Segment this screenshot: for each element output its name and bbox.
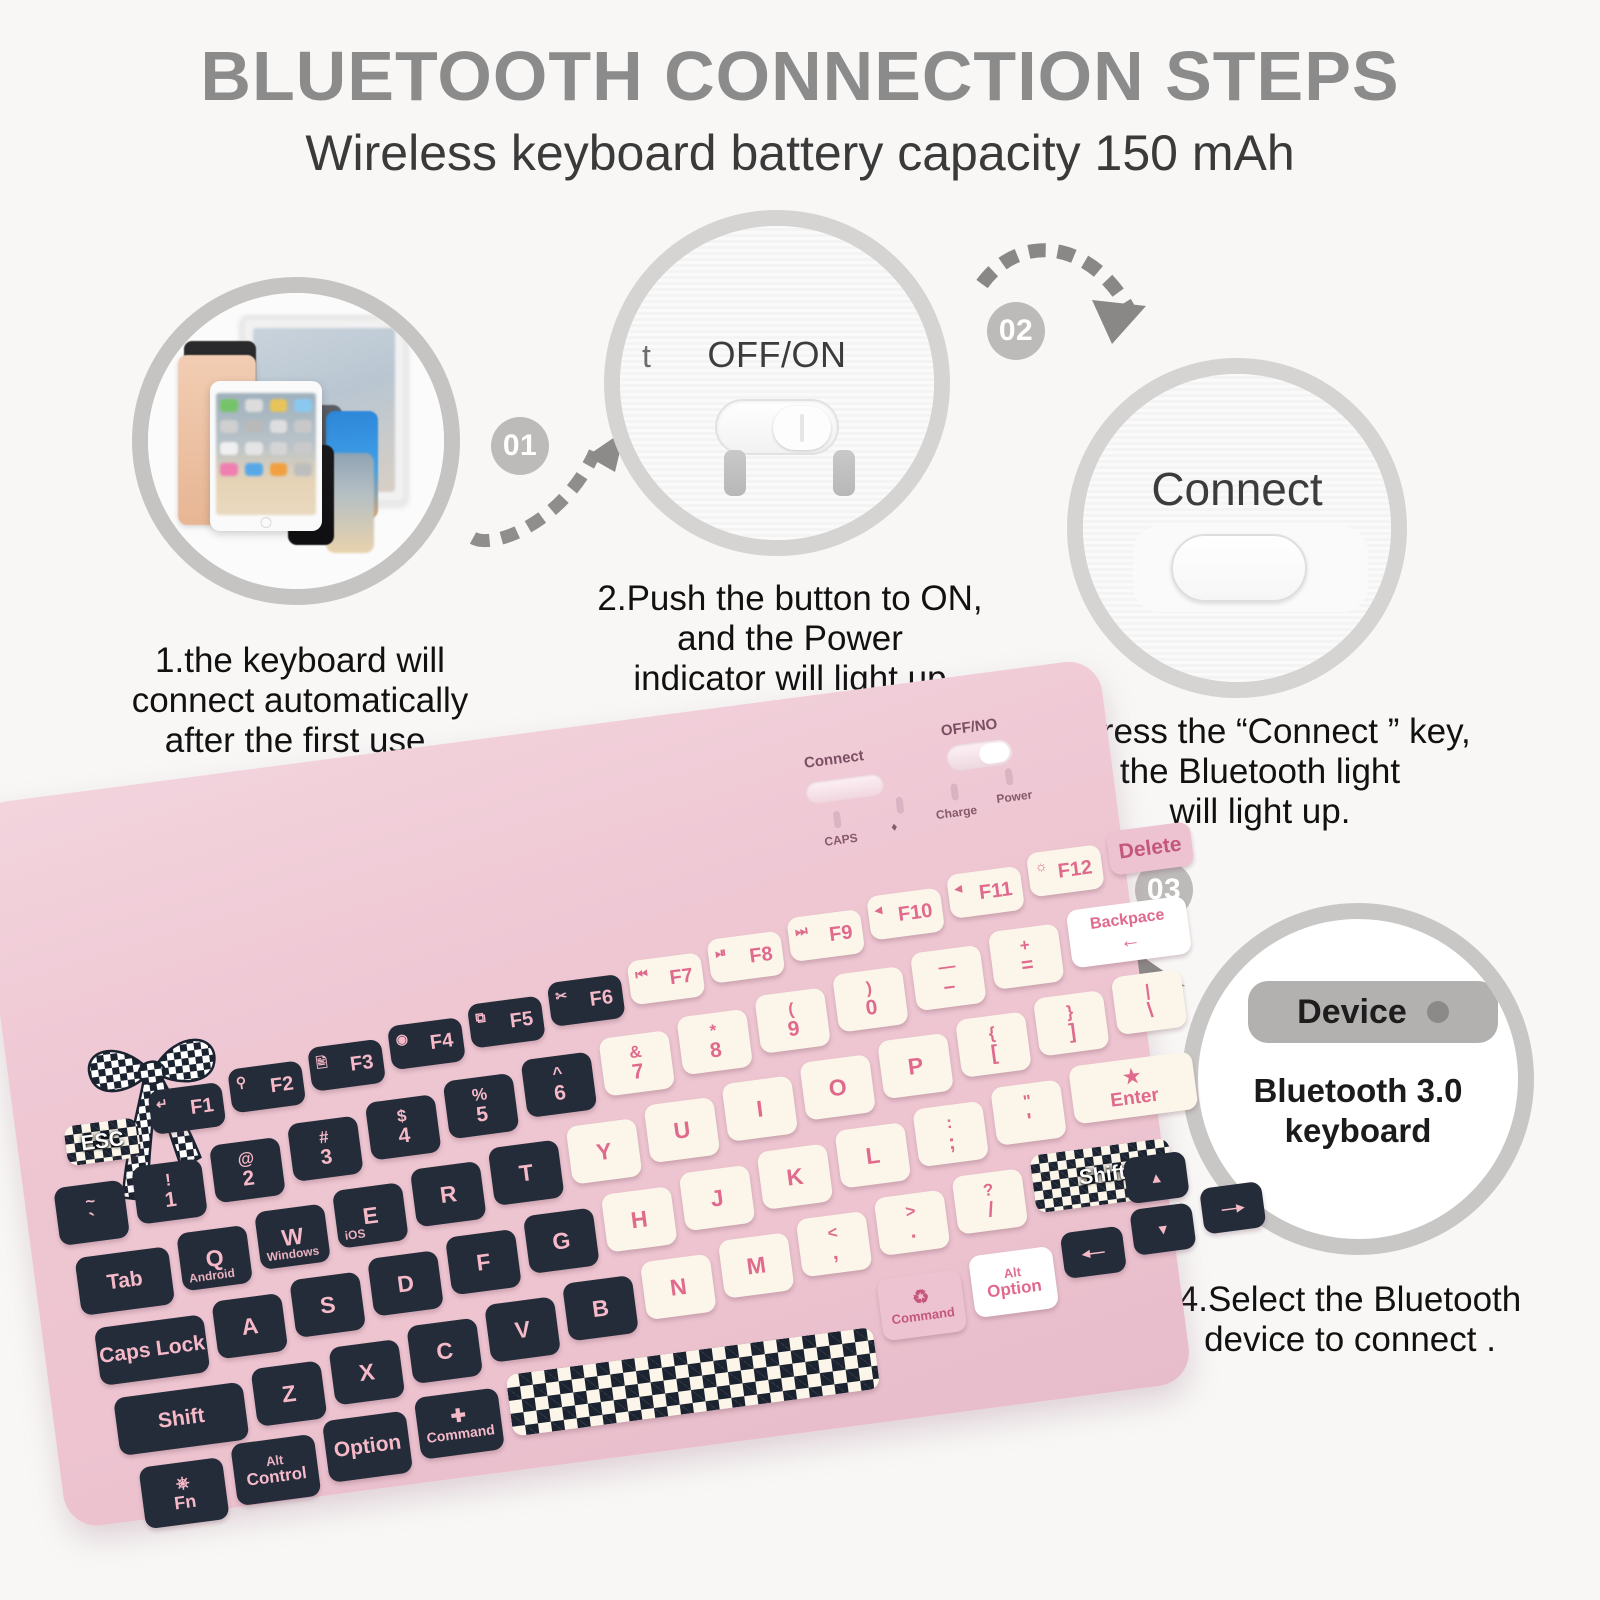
key-p[interactable]: P (877, 1033, 954, 1100)
key-f8[interactable]: ⏯F8 (706, 931, 785, 984)
key-k[interactable]: K (756, 1143, 833, 1210)
key-f3[interactable]: 🖹F3 (307, 1039, 386, 1092)
key-w[interactable]: WWindows (254, 1203, 331, 1270)
key-backtick[interactable]: ~` (53, 1179, 130, 1246)
arrow-left-icon: ◂— (1081, 1242, 1106, 1263)
key-f1[interactable]: ↵F1 (147, 1082, 226, 1135)
arrow-down-icon: ▾ (1158, 1220, 1168, 1239)
key-i[interactable]: I (721, 1075, 798, 1142)
page-title: BLUETOOTH CONNECTION STEPS (0, 36, 1600, 116)
key-x[interactable]: X (328, 1339, 405, 1406)
key-tab[interactable]: Tab (74, 1246, 175, 1316)
key-f10[interactable]: ◂F10 (866, 887, 945, 940)
key-m[interactable]: M (718, 1232, 795, 1299)
key-caps-lock[interactable]: Caps Lock (94, 1314, 211, 1386)
device-label: Device (1297, 993, 1407, 1032)
key-r[interactable]: R (410, 1161, 487, 1228)
prev-track-icon: ⏮ (634, 965, 649, 984)
key-c[interactable]: C (406, 1318, 483, 1385)
key-arrow-left[interactable]: ◂— (1060, 1226, 1127, 1280)
key-v[interactable]: V (484, 1296, 561, 1363)
key-5[interactable]: %5 (443, 1073, 520, 1140)
off-on-label: OFF/ON (620, 334, 934, 376)
key-option-left[interactable]: Option (322, 1411, 413, 1483)
key-a[interactable]: A (211, 1293, 288, 1360)
key-7[interactable]: &7 (598, 1030, 675, 1097)
indicator-slot-right (833, 450, 855, 496)
key-q[interactable]: QAndroid (176, 1225, 253, 1292)
app-icon-grid (220, 399, 312, 477)
bandage-icon: ✚ (450, 1405, 467, 1426)
key-shift-left[interactable]: Shift (113, 1382, 249, 1456)
star-icon: ✭ (1123, 1066, 1141, 1088)
key-period[interactable]: >. (874, 1189, 951, 1256)
document-icon: 🖹 (315, 1052, 329, 1077)
key-1[interactable]: !1 (131, 1158, 208, 1225)
undo-icon: ↵ (155, 1095, 169, 1113)
key-n[interactable]: N (640, 1254, 717, 1321)
key-h[interactable]: H (601, 1186, 678, 1253)
keyboard-body: Connect OFF/NO CAPS ♦ Charge Power ESC ↵… (0, 658, 1193, 1530)
arrow-right-icon: —▸ (1220, 1197, 1245, 1218)
key-f5[interactable]: ⧉F5 (467, 995, 546, 1048)
key-t[interactable]: T (488, 1139, 565, 1206)
key-deck: ESC ↵F1 ⚲F2 🖹F3 ◉F4 ⧉F5 ✂F6 ⏮F7 ⏯F8 (0, 658, 1193, 1530)
copy-icon: ⧉ (474, 1009, 486, 1027)
key-e[interactable]: EiOS (332, 1182, 409, 1249)
key-arrow-up[interactable]: ▴ (1122, 1151, 1189, 1205)
key-option-right[interactable]: AltOption (968, 1246, 1059, 1318)
key-fn[interactable]: ⎈Fn (138, 1457, 229, 1529)
key-9[interactable]: (9 (754, 987, 831, 1054)
key-equals[interactable]: += (988, 923, 1065, 990)
key-g[interactable]: G (523, 1207, 600, 1274)
key-f7[interactable]: ⏮F7 (626, 952, 705, 1005)
key-command-right[interactable]: ♻Command (876, 1269, 967, 1341)
key-command-left[interactable]: ✚Command (414, 1387, 505, 1459)
play-pause-icon: ⏯ (714, 944, 727, 962)
key-quote[interactable]: "' (990, 1079, 1067, 1146)
step-badge-01: 01 (491, 417, 549, 475)
device-row[interactable]: Device (1248, 981, 1498, 1043)
indicator-slot-left (724, 450, 746, 496)
key-arrow-right[interactable]: —▸ (1199, 1181, 1266, 1235)
volume-down-icon: ◂ (954, 880, 963, 898)
key-minus[interactable]: —– (910, 945, 987, 1012)
key-bracket-right[interactable]: }] (1033, 990, 1110, 1057)
key-s[interactable]: S (289, 1271, 366, 1338)
key-y[interactable]: Y (566, 1118, 643, 1185)
page-subtitle: Wireless keyboard battery capacity 150 m… (0, 124, 1600, 182)
step-1-device-circle (132, 277, 460, 605)
tablet-main-icon (210, 381, 322, 531)
step-2-power-switch-circle: t OFF/ON (604, 210, 950, 556)
search-icon: ⚲ (235, 1074, 247, 1092)
key-0[interactable]: )0 (832, 966, 909, 1033)
power-toggle-switch[interactable] (715, 399, 839, 455)
key-semicolon[interactable]: :; (912, 1101, 989, 1168)
connect-label: Connect (1083, 462, 1391, 516)
key-l[interactable]: L (834, 1122, 911, 1189)
key-4[interactable]: $4 (365, 1094, 442, 1161)
next-track-icon: ⏭ (794, 922, 809, 941)
device-collage (148, 293, 444, 589)
key-f12[interactable]: ☼F12 (1026, 844, 1105, 897)
key-2[interactable]: @2 (209, 1137, 286, 1204)
key-u[interactable]: U (643, 1097, 720, 1164)
key-esc[interactable]: ESC (63, 1117, 142, 1166)
mic-icon: ◉ (395, 1030, 409, 1048)
key-f11[interactable]: ◂F11 (946, 866, 1025, 919)
key-backslash[interactable]: |\ (1111, 969, 1188, 1036)
arrow-step-2-to-3 (960, 222, 1170, 382)
volume-mute-icon: ◂ (874, 901, 883, 919)
key-spacebar[interactable] (505, 1327, 880, 1437)
infographic-root: BLUETOOTH CONNECTION STEPS Wireless keyb… (0, 0, 1600, 1600)
bluetooth-device-name: Bluetooth 3.0keyboard (1198, 1071, 1518, 1152)
key-6[interactable]: ^6 (520, 1051, 597, 1118)
keyboard: Connect OFF/NO CAPS ♦ Charge Power ESC ↵… (0, 626, 1221, 1600)
key-b[interactable]: B (562, 1275, 639, 1342)
shell-icon: ⎈ (175, 1474, 191, 1493)
key-arrow-down[interactable]: ▾ (1129, 1202, 1196, 1256)
scissors-icon: ✂ (554, 987, 568, 1005)
key-f2[interactable]: ⚲F2 (227, 1060, 306, 1113)
key-comma[interactable]: <, (796, 1211, 873, 1278)
arrow-up-icon: ▴ (1151, 1168, 1161, 1187)
key-control[interactable]: AltControl (230, 1434, 321, 1506)
key-enter[interactable]: ✭Enter (1068, 1051, 1199, 1125)
left-arrow-icon: ← (1118, 929, 1142, 954)
key-3[interactable]: #3 (287, 1115, 364, 1182)
brightness-icon: ☼ (1034, 857, 1049, 875)
key-d[interactable]: D (367, 1250, 444, 1317)
step-badge-02: 02 (987, 302, 1045, 360)
step-3-connect-circle: Connect (1067, 358, 1407, 698)
key-z[interactable]: Z (250, 1360, 327, 1427)
key-bracket-left[interactable]: {[ (955, 1011, 1032, 1078)
key-8[interactable]: *8 (676, 1009, 753, 1076)
connect-button[interactable] (1171, 534, 1307, 602)
key-o[interactable]: O (799, 1054, 876, 1121)
key-j[interactable]: J (679, 1165, 756, 1232)
key-f4[interactable]: ◉F4 (387, 1017, 466, 1070)
device-status-dot (1427, 1001, 1449, 1023)
key-f9[interactable]: ⏭F9 (786, 909, 865, 962)
first-aid-kit-icon: ♻ (911, 1287, 931, 1309)
key-f6[interactable]: ✂F6 (547, 974, 626, 1027)
key-slash[interactable]: ?/ (951, 1168, 1028, 1235)
key-f[interactable]: F (445, 1229, 522, 1296)
